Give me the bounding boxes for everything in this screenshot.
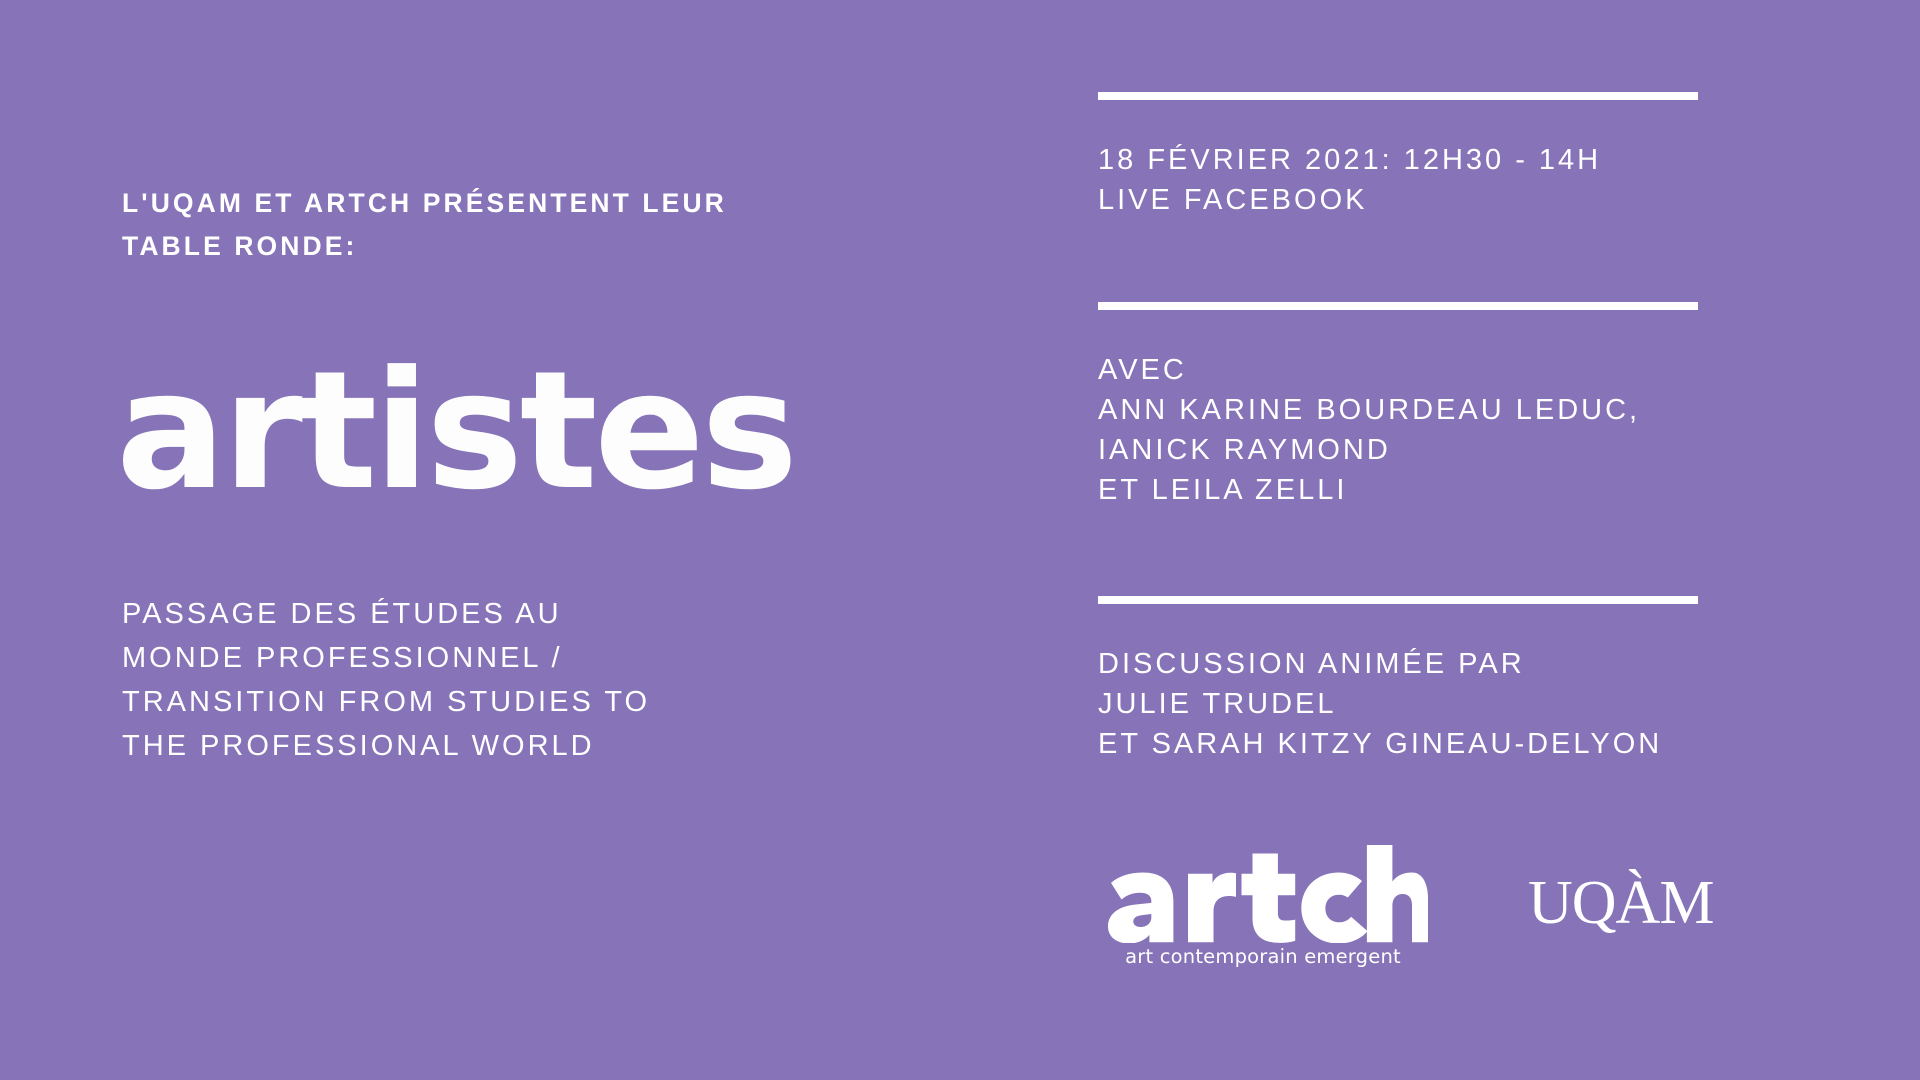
moderators-block-text: DISCUSSION ANIMÉE PAR JULIE TRUDEL ET SA… [1098, 644, 1698, 764]
divider-rule-speakers [1098, 302, 1698, 310]
poster-headline: artistes [116, 350, 795, 513]
date-block-text: 18 FÉVRIER 2021: 12H30 - 14H LIVE FACEBO… [1098, 140, 1698, 220]
uqam-logo: UQÀM [1528, 867, 1728, 946]
artch-tagline: art contemporain emergent [1098, 945, 1428, 968]
logo-row: art contemporain emergent UQÀM [1098, 845, 1818, 968]
speakers-block-text: AVEC ANN KARINE BOURDEAU LEDUC, IANICK R… [1098, 350, 1698, 510]
svg-text:UQÀM: UQÀM [1528, 869, 1713, 937]
moderators-block: DISCUSSION ANIMÉE PAR JULIE TRUDEL ET SA… [1098, 596, 1698, 764]
left-column: L'UQAM ET ARTCH PRÉSENTENT LEUR TABLE RO… [122, 0, 912, 1080]
artch-logo: art contemporain emergent [1098, 845, 1428, 968]
uqam-wordmark-icon: UQÀM [1528, 867, 1728, 941]
right-column: 18 FÉVRIER 2021: 12H30 - 14H LIVE FACEBO… [1098, 0, 1818, 1080]
artch-wordmark-icon [1098, 845, 1428, 943]
poster-subtitle: PASSAGE DES ÉTUDES AU MONDE PROFESSIONNE… [122, 592, 952, 768]
poster-kicker: L'UQAM ET ARTCH PRÉSENTENT LEUR TABLE RO… [122, 182, 952, 268]
event-poster: L'UQAM ET ARTCH PRÉSENTENT LEUR TABLE RO… [0, 0, 1920, 1080]
divider-rule-date [1098, 92, 1698, 100]
date-block: 18 FÉVRIER 2021: 12H30 - 14H LIVE FACEBO… [1098, 92, 1698, 220]
divider-rule-moderators [1098, 596, 1698, 604]
speakers-block: AVEC ANN KARINE BOURDEAU LEDUC, IANICK R… [1098, 302, 1698, 510]
